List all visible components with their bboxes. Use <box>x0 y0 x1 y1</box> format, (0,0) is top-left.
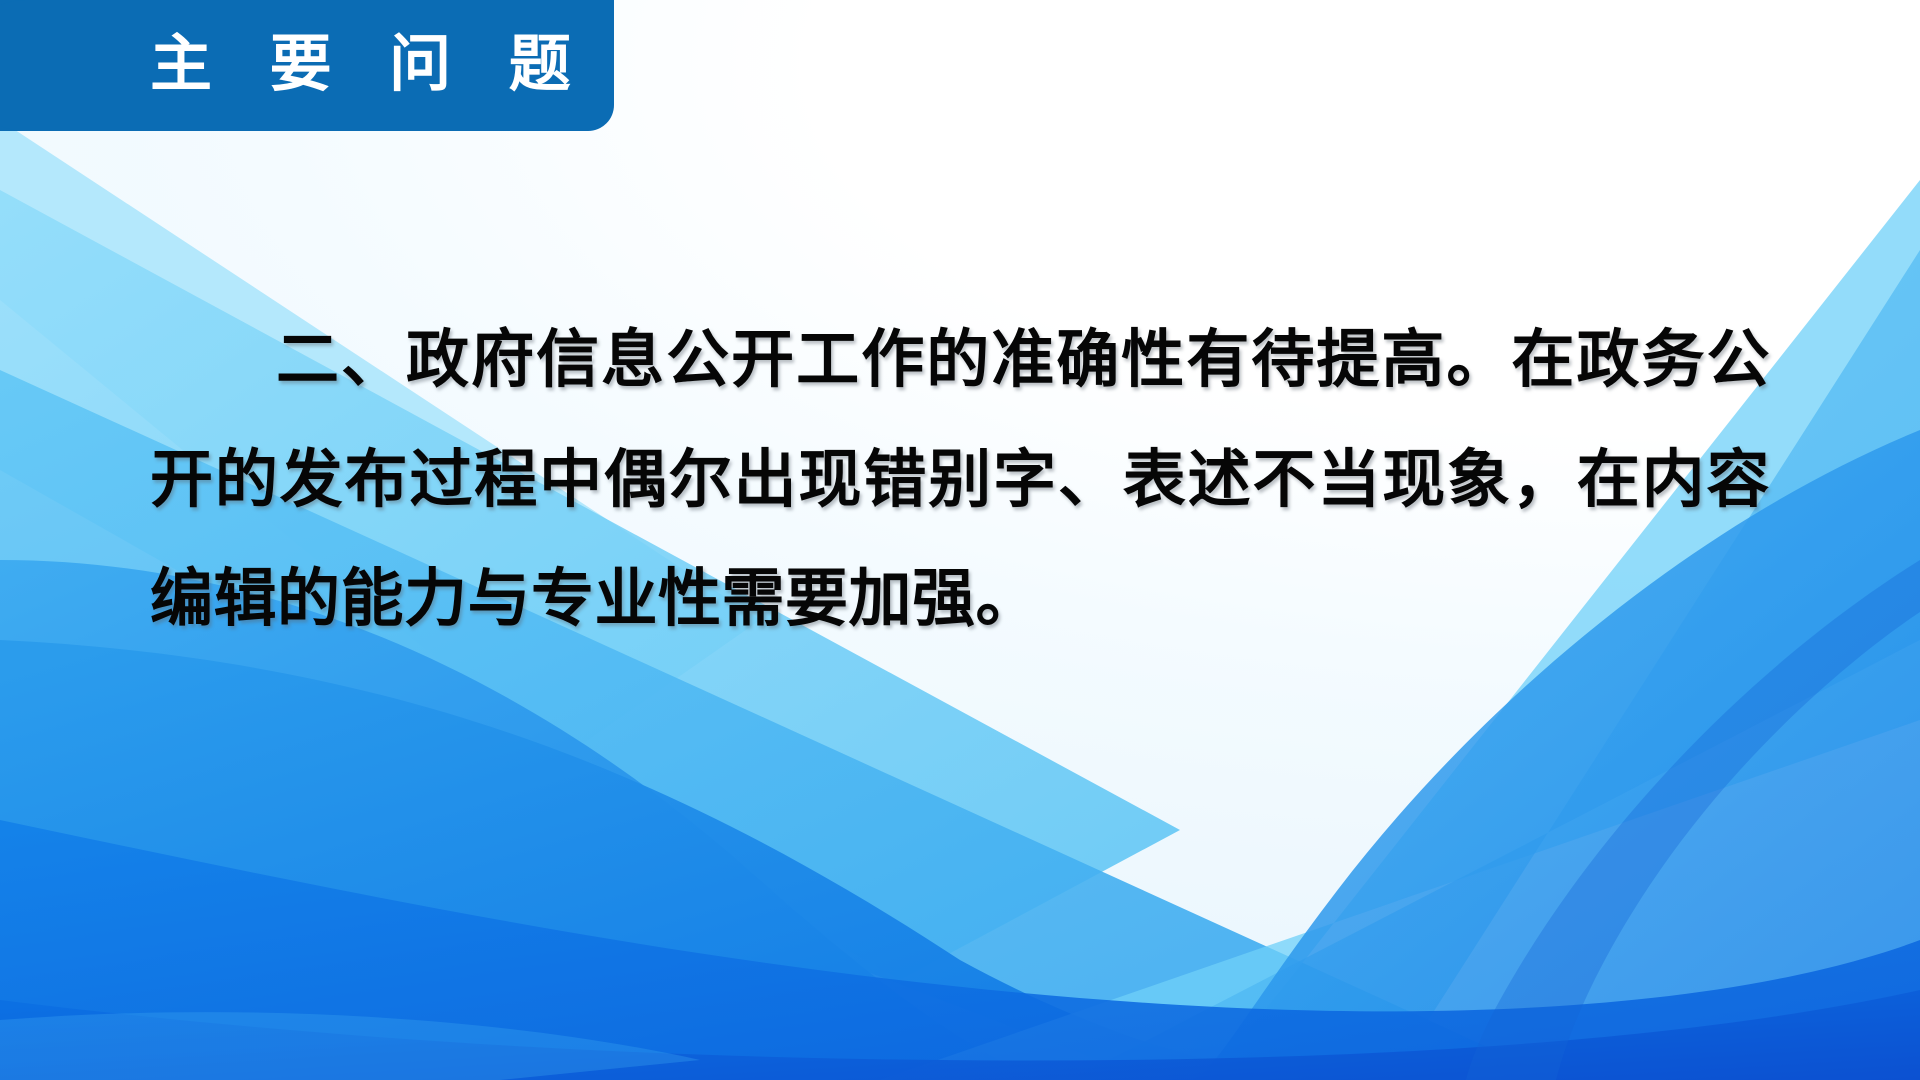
body-text-block: 二、政府信息公开工作的准确性有待提高。在政务公开的发布过程中偶尔出现错别字、表述… <box>150 300 1770 659</box>
slide-canvas: 主 要 问 题 二、政府信息公开工作的准确性有待提高。在政务公开的发布过程中偶尔… <box>0 0 1920 1080</box>
section-title-badge: 主 要 问 题 <box>0 0 614 131</box>
section-title-text: 主 要 问 题 <box>150 0 589 131</box>
body-paragraph: 二、政府信息公开工作的准确性有待提高。在政务公开的发布过程中偶尔出现错别字、表述… <box>150 300 1770 659</box>
